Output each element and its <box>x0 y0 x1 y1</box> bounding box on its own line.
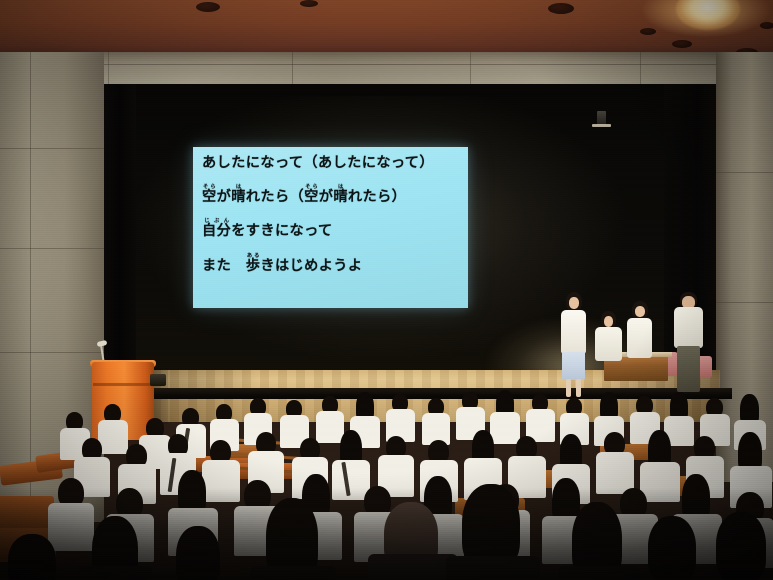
audience <box>0 0 773 580</box>
auditorium-photo: あしたになって（あしたになって） 空そらが晴はれたら（空そらが晴はれたら） 自分… <box>0 0 773 580</box>
auditorium-seat <box>0 496 54 530</box>
